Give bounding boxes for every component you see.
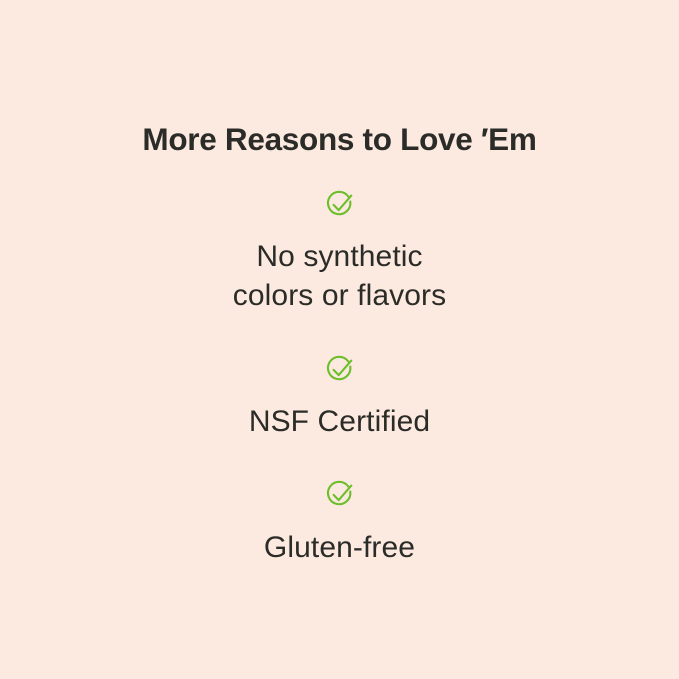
list-item: No synthetic colors or flavors: [0, 188, 679, 315]
list-item-label: Gluten-free: [264, 528, 415, 567]
check-circle-icon: [323, 478, 357, 512]
page-title: More Reasons to Love ′Em: [0, 124, 679, 156]
list-item: Gluten-free: [0, 478, 679, 567]
check-circle-icon: [323, 353, 357, 387]
list-item-label: No synthetic colors or flavors: [233, 237, 446, 315]
list-item-label: NSF Certified: [249, 402, 430, 441]
list-item: NSF Certified: [0, 353, 679, 441]
check-circle-icon: [323, 188, 357, 222]
product-benefits-poster: More Reasons to Love ′Em No synthetic co…: [0, 0, 679, 679]
